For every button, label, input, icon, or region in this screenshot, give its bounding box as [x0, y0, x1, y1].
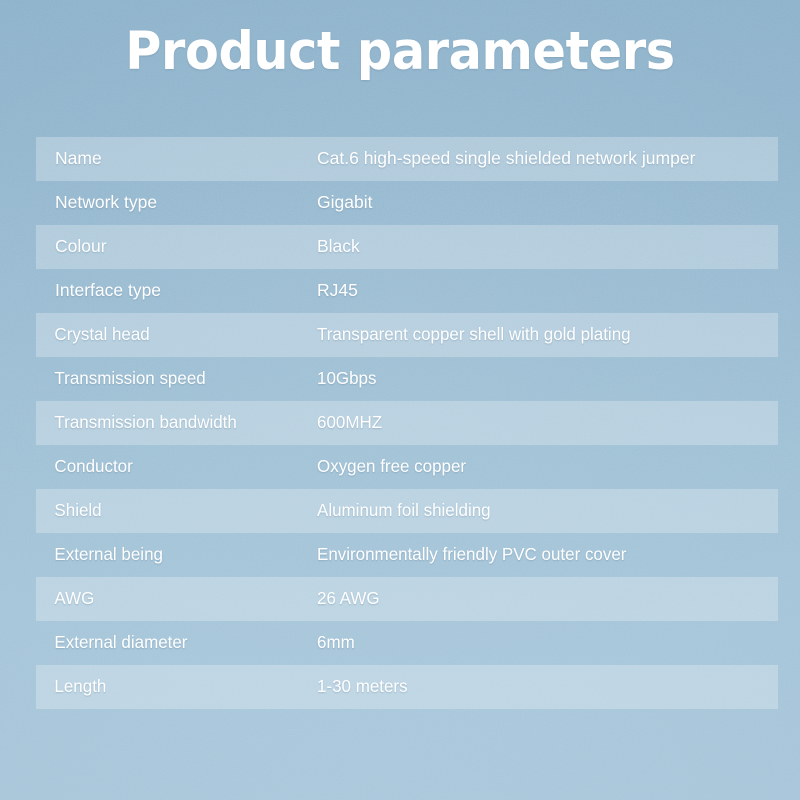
spec-value: Transparent copper shell with gold plati…: [317, 326, 764, 344]
table-row: Network type Gigabit: [36, 181, 778, 225]
table-row: Name Cat.6 high-speed single shielded ne…: [36, 137, 778, 181]
spec-value: 10Gbps: [317, 370, 764, 388]
table-row: External diameter 6mm: [36, 621, 778, 665]
spec-label: Interface type: [36, 282, 317, 300]
spec-value: Aluminum foil shielding: [317, 502, 764, 520]
table-row: Interface type RJ45: [36, 269, 778, 313]
spec-value: 26 AWG: [317, 590, 764, 608]
spec-value: 1-30 meters: [317, 678, 764, 696]
spec-label: External diameter: [36, 634, 309, 652]
spec-value: Gigabit: [317, 194, 778, 212]
spec-label: Transmission speed: [36, 370, 309, 388]
table-row: Transmission speed 10Gbps: [36, 357, 778, 401]
product-parameters-poster: Product parameters Name Cat.6 high-speed…: [0, 0, 800, 800]
spec-label: Name: [36, 150, 317, 168]
spec-table: Name Cat.6 high-speed single shielded ne…: [36, 137, 778, 709]
table-row: Conductor Oxygen free copper: [36, 445, 778, 489]
spec-label: Shield: [36, 502, 309, 520]
spec-label: Colour: [36, 238, 317, 256]
spec-label: AWG: [36, 590, 309, 608]
table-row: Crystal head Transparent copper shell wi…: [36, 313, 778, 357]
spec-value: Black: [317, 238, 778, 256]
spec-value: 600MHZ: [317, 414, 764, 432]
table-row: Length 1-30 meters: [36, 665, 778, 709]
spec-label: Transmission bandwidth: [36, 414, 309, 432]
table-row: Shield Aluminum foil shielding: [36, 489, 778, 533]
spec-value: Oxygen free copper: [317, 458, 764, 476]
page-title: Product parameters: [28, 22, 772, 83]
spec-label: Crystal head: [36, 326, 309, 344]
spec-label: External being: [36, 546, 309, 564]
spec-value: RJ45: [317, 282, 778, 300]
table-row: AWG 26 AWG: [36, 577, 778, 621]
spec-value: Environmentally friendly PVC outer cover: [317, 546, 764, 564]
spec-label: Length: [36, 678, 309, 696]
table-row: Colour Black: [36, 225, 778, 269]
table-row: External being Environmentally friendly …: [36, 533, 778, 577]
spec-value: 6mm: [317, 634, 764, 652]
spec-value: Cat.6 high-speed single shielded network…: [317, 150, 778, 168]
spec-label: Conductor: [36, 458, 309, 476]
spec-label: Network type: [36, 194, 317, 212]
table-row: Transmission bandwidth 600MHZ: [36, 401, 778, 445]
